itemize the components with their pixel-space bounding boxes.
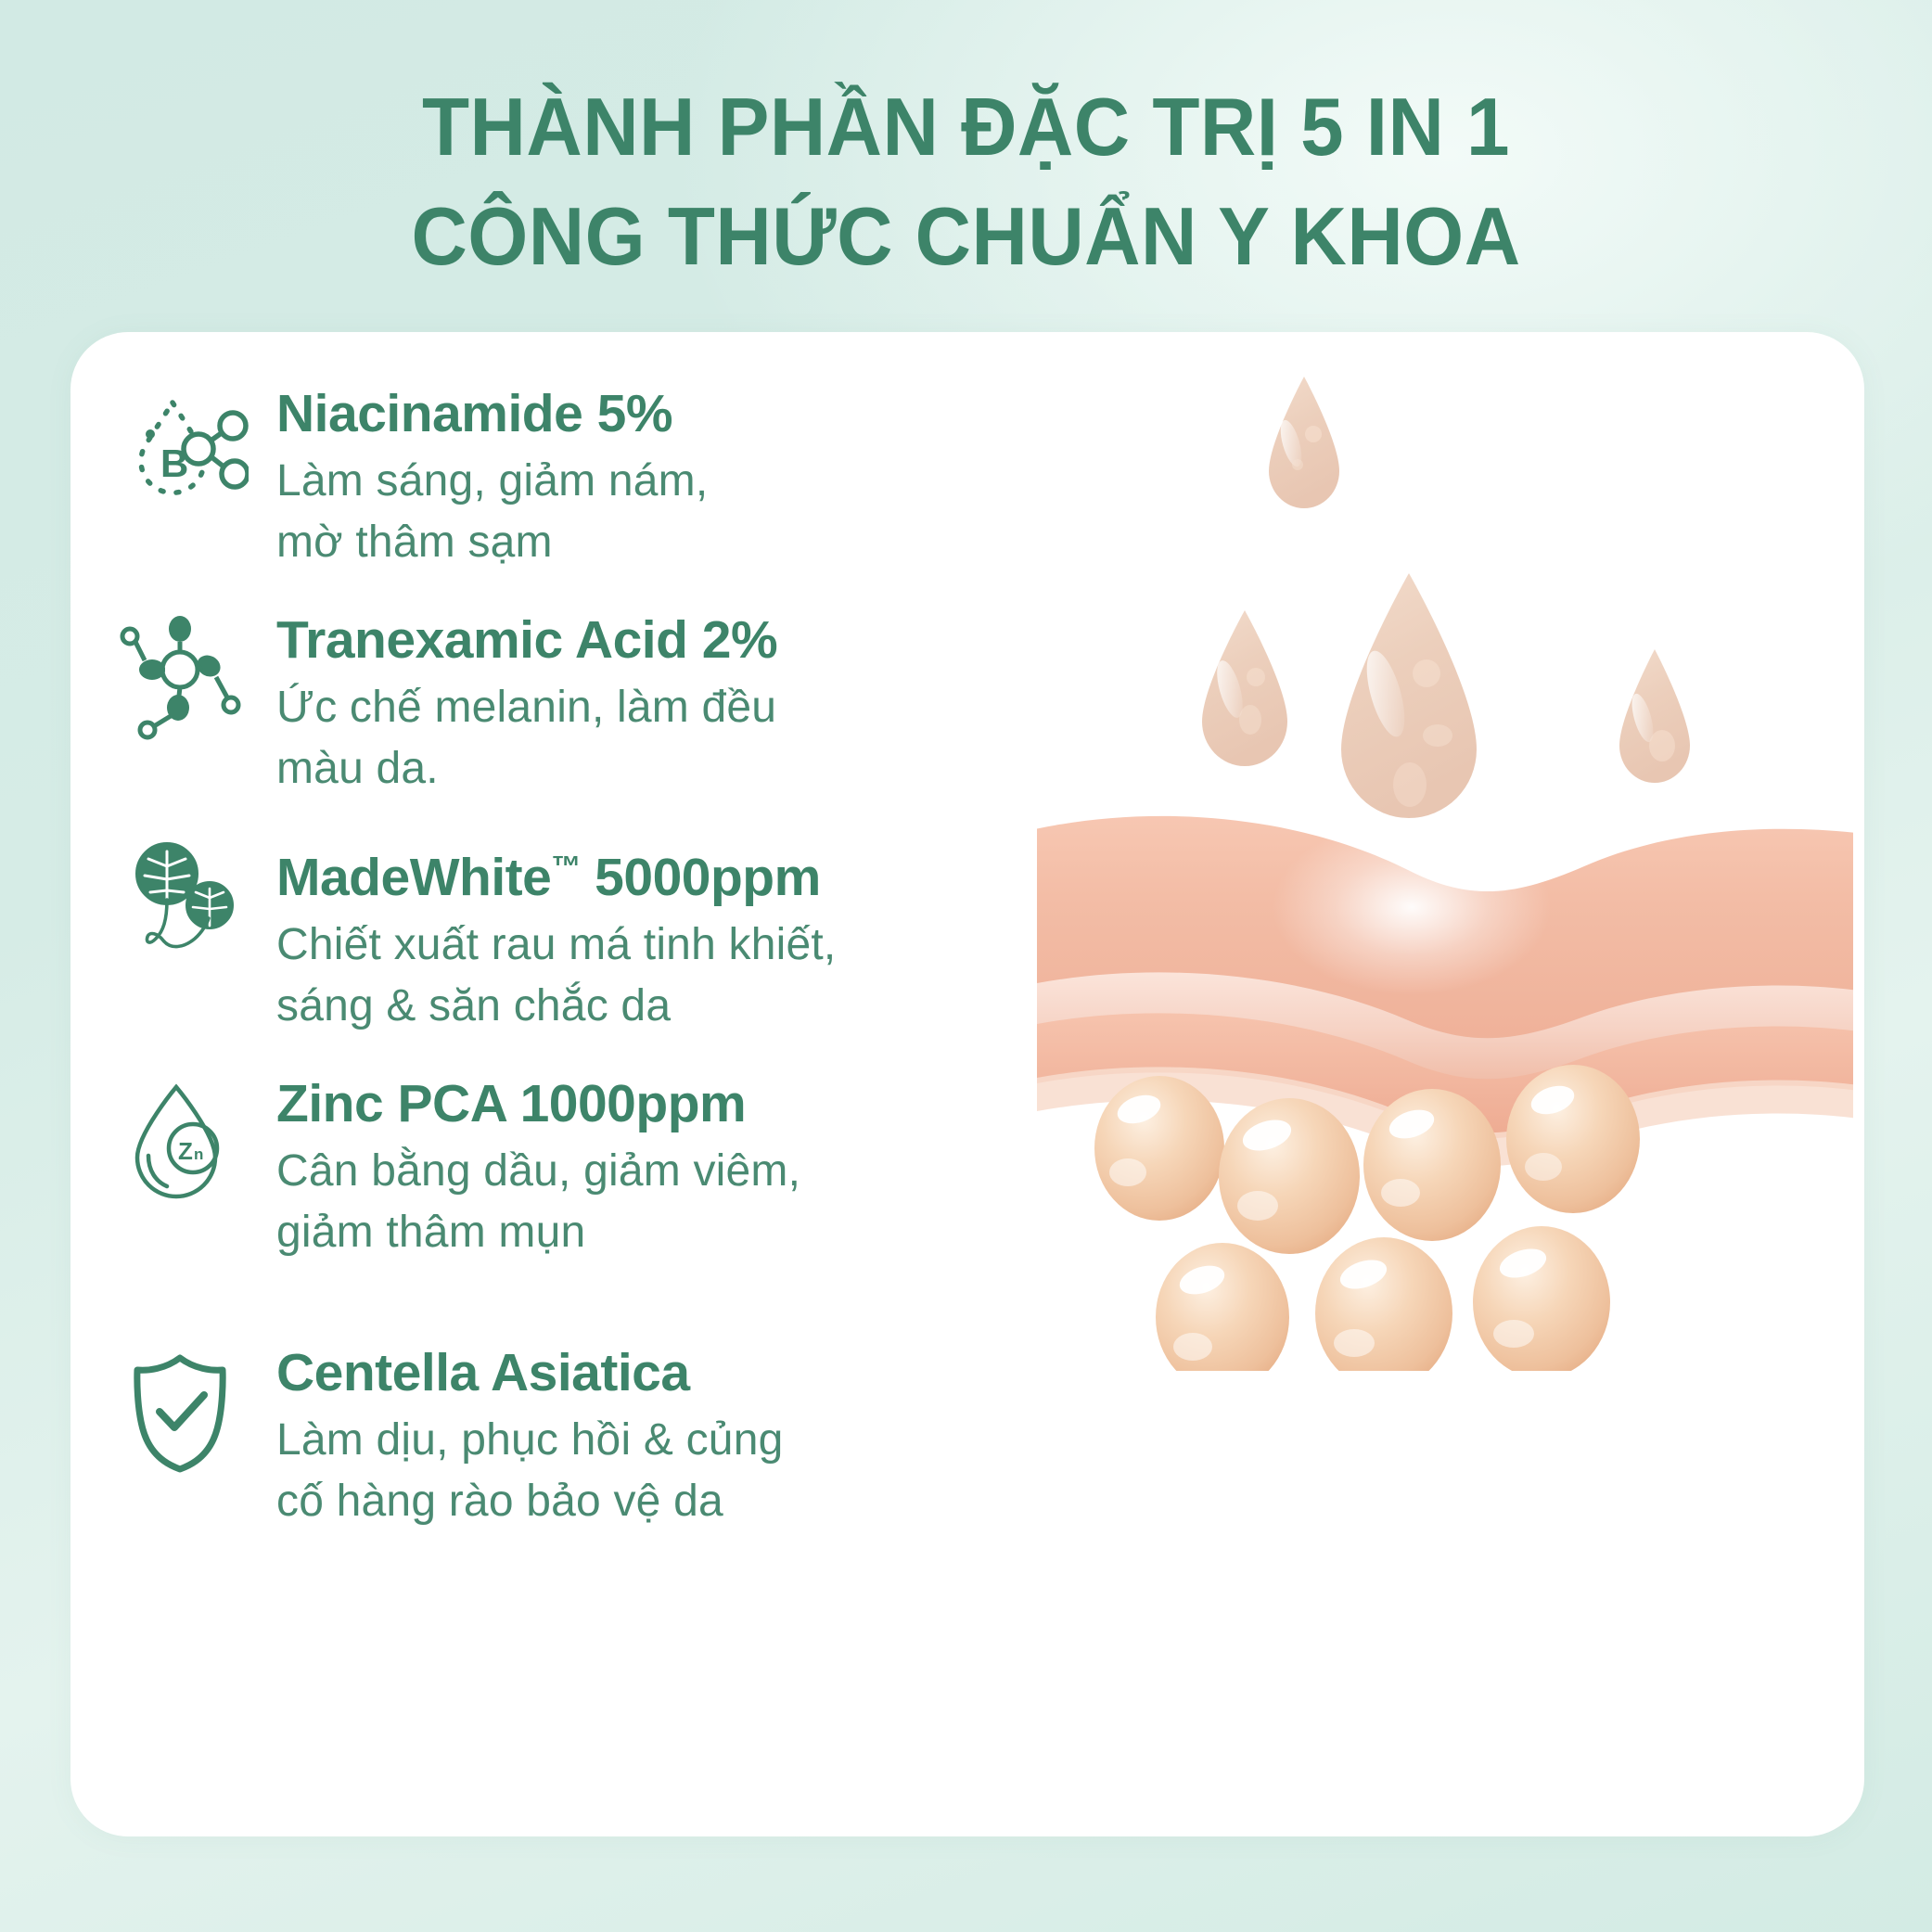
ingredient-amount: 5000ppm bbox=[581, 848, 821, 907]
desc-line: sáng & săn chắc da bbox=[276, 976, 836, 1037]
list-item: Centella Asiatica Làm dịu, phục hồi & củ… bbox=[115, 1339, 1043, 1532]
desc-line: Chiết xuất rau má tinh khiết, bbox=[276, 915, 836, 976]
page-title: THÀNH PHẦN ĐẶC TRỊ 5 IN 1 CÔNG THỨC CHUẨ… bbox=[0, 72, 1932, 291]
ingredient-description: Chiết xuất rau má tinh khiết, sáng & săn… bbox=[276, 915, 836, 1037]
ingredients-card: B Niacinamide 5% Làm sáng, giảm nám, mờ … bbox=[70, 332, 1864, 1836]
title-line-2: CÔNG THỨC CHUẨN Y KHOA bbox=[48, 182, 1884, 291]
desc-line: Ức chế melanin, làm đều bbox=[276, 677, 777, 738]
vitamin-b-droplet-molecule-icon: B bbox=[115, 380, 252, 516]
ingredient-name: Tranexamic Acid 2% bbox=[276, 608, 777, 672]
ingredient-text: Zinc PCA 1000ppm Cân bằng dầu, giảm viêm… bbox=[276, 1070, 800, 1263]
title-line-1: THÀNH PHẦN ĐẶC TRỊ 5 IN 1 bbox=[48, 72, 1884, 182]
ingredient-text: MadeWhite™ 5000ppm Chiết xuất rau má tin… bbox=[276, 833, 836, 1037]
serum-droplet bbox=[1269, 377, 1339, 508]
desc-line: Cân bằng dầu, giảm viêm, bbox=[276, 1141, 800, 1202]
pearl-sphere-row-lower bbox=[1156, 1226, 1610, 1371]
desc-line: giảm thâm mụn bbox=[276, 1202, 800, 1263]
ingredient-description: Cân bằng dầu, giảm viêm, giảm thâm mụn bbox=[276, 1141, 800, 1263]
ingredient-description: Làm dịu, phục hồi & củng cố hàng rào bảo… bbox=[276, 1410, 784, 1532]
trademark-symbol: ™ bbox=[551, 850, 581, 883]
list-item: Tranexamic Acid 2% Ức chế melanin, làm đ… bbox=[115, 607, 1043, 800]
ingredient-name: Niacinamide 5% bbox=[276, 382, 708, 445]
shield-check-icon bbox=[115, 1339, 252, 1475]
ingredient-brand: MadeWhite bbox=[276, 848, 551, 907]
svg-text:n: n bbox=[194, 1145, 203, 1163]
serum-droplet bbox=[1619, 649, 1690, 783]
ingredient-name: Zinc PCA 1000ppm bbox=[276, 1072, 800, 1135]
svg-text:Z: Z bbox=[178, 1137, 193, 1165]
desc-line: mờ thâm sạm bbox=[276, 512, 708, 573]
ingredient-name: MadeWhite™ 5000ppm bbox=[276, 835, 836, 909]
list-item: B Niacinamide 5% Làm sáng, giảm nám, mờ … bbox=[115, 380, 1043, 573]
list-item: Z n Zinc PCA 1000ppm Cân bằng dầu, giảm … bbox=[115, 1070, 1043, 1263]
desc-line: Làm sáng, giảm nám, bbox=[276, 451, 708, 512]
desc-line: Làm dịu, phục hồi & củng bbox=[276, 1410, 784, 1471]
ingredient-text: Tranexamic Acid 2% Ức chế melanin, làm đ… bbox=[276, 607, 777, 800]
zinc-droplet-icon: Z n bbox=[115, 1070, 252, 1206]
desc-line: cố hàng rào bảo vệ da bbox=[276, 1471, 784, 1532]
absorption-glow bbox=[1273, 819, 1551, 995]
desc-line: màu da. bbox=[276, 738, 777, 800]
ingredient-description: Làm sáng, giảm nám, mờ thâm sạm bbox=[276, 451, 708, 573]
serum-droplet bbox=[1202, 610, 1287, 766]
ingredient-text: Centella Asiatica Làm dịu, phục hồi & củ… bbox=[276, 1339, 784, 1532]
serum-absorption-skin-layers-illustration bbox=[1037, 351, 1853, 1371]
serum-droplet bbox=[1341, 573, 1477, 818]
centella-leaf-icon bbox=[115, 833, 252, 968]
list-item: MadeWhite™ 5000ppm Chiết xuất rau má tin… bbox=[115, 833, 1043, 1037]
molecule-structure-icon bbox=[115, 607, 252, 742]
ingredient-list: B Niacinamide 5% Làm sáng, giảm nám, mờ … bbox=[115, 380, 1043, 1566]
ingredient-text: Niacinamide 5% Làm sáng, giảm nám, mờ th… bbox=[276, 380, 708, 573]
ingredient-description: Ức chế melanin, làm đều màu da. bbox=[276, 677, 777, 800]
ingredient-name: Centella Asiatica bbox=[276, 1341, 784, 1404]
